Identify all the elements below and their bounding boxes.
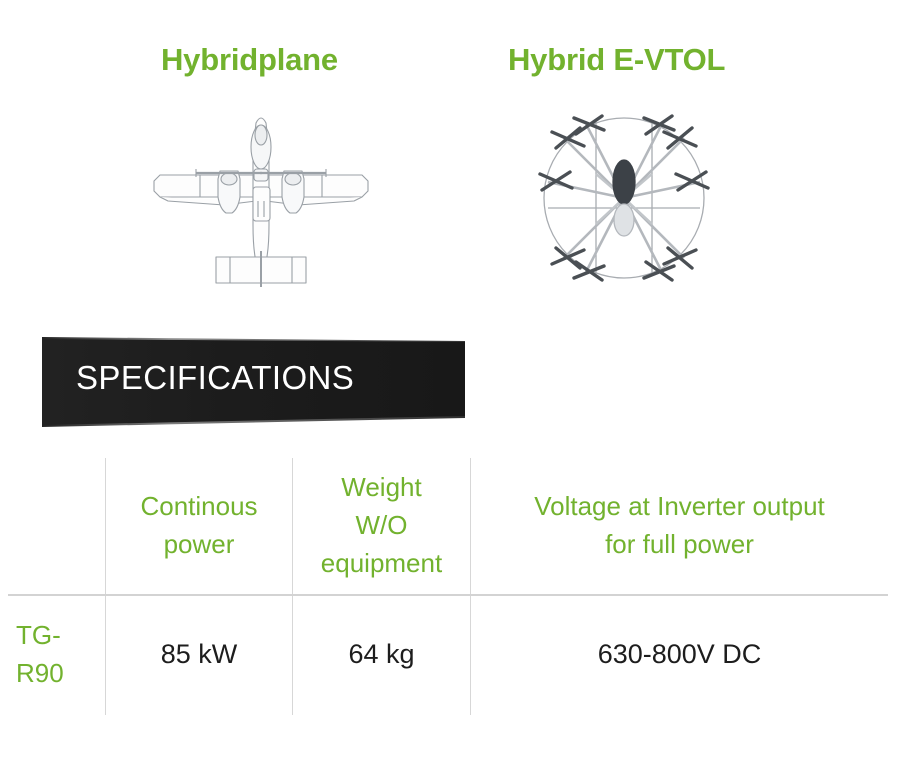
header-line: power bbox=[140, 526, 257, 564]
product-title-evtol: Hybrid E-VTOL bbox=[508, 42, 725, 78]
table-header-cell-voltage-at-inverter-output: Voltage at Inverter output for full powe… bbox=[471, 458, 888, 594]
specifications-table: Continous power Weight W/O equipment Vol… bbox=[8, 458, 888, 715]
row-label-line: R90 bbox=[16, 655, 64, 693]
table-cell-weight-wo-equipment: 64 kg bbox=[293, 595, 470, 715]
row-label-line: TG- bbox=[16, 617, 64, 655]
specifications-banner: SPECIFICATIONS bbox=[40, 330, 470, 435]
table-header-cell-weight-wo-equipment: Weight W/O equipment bbox=[293, 458, 470, 594]
evtol-octocopter-illustration bbox=[534, 112, 714, 284]
specifications-banner-label: SPECIFICATIONS bbox=[76, 359, 354, 397]
header-line: for full power bbox=[534, 526, 825, 564]
header-line: W/O bbox=[321, 507, 442, 545]
header-line: Weight bbox=[321, 469, 442, 507]
table-cell-continous-power: 85 kW bbox=[106, 595, 292, 715]
table-cell-voltage-at-inverter-output: 630-800V DC bbox=[471, 595, 888, 715]
aircraft-top-view-illustration bbox=[138, 105, 384, 295]
product-title-hybridplane: Hybridplane bbox=[161, 42, 338, 78]
octocopter-top-view-icon bbox=[534, 112, 714, 284]
table-header-cell-blank bbox=[8, 458, 105, 594]
table-row-label-tg-r90: TG- R90 bbox=[8, 595, 105, 715]
header-line: equipment bbox=[321, 545, 442, 583]
table-header-cell-continous-power: Continous power bbox=[106, 458, 292, 594]
aircraft-top-view-icon bbox=[138, 105, 384, 295]
header-line: Voltage at Inverter output bbox=[534, 488, 825, 526]
header-line: Continous bbox=[140, 488, 257, 526]
